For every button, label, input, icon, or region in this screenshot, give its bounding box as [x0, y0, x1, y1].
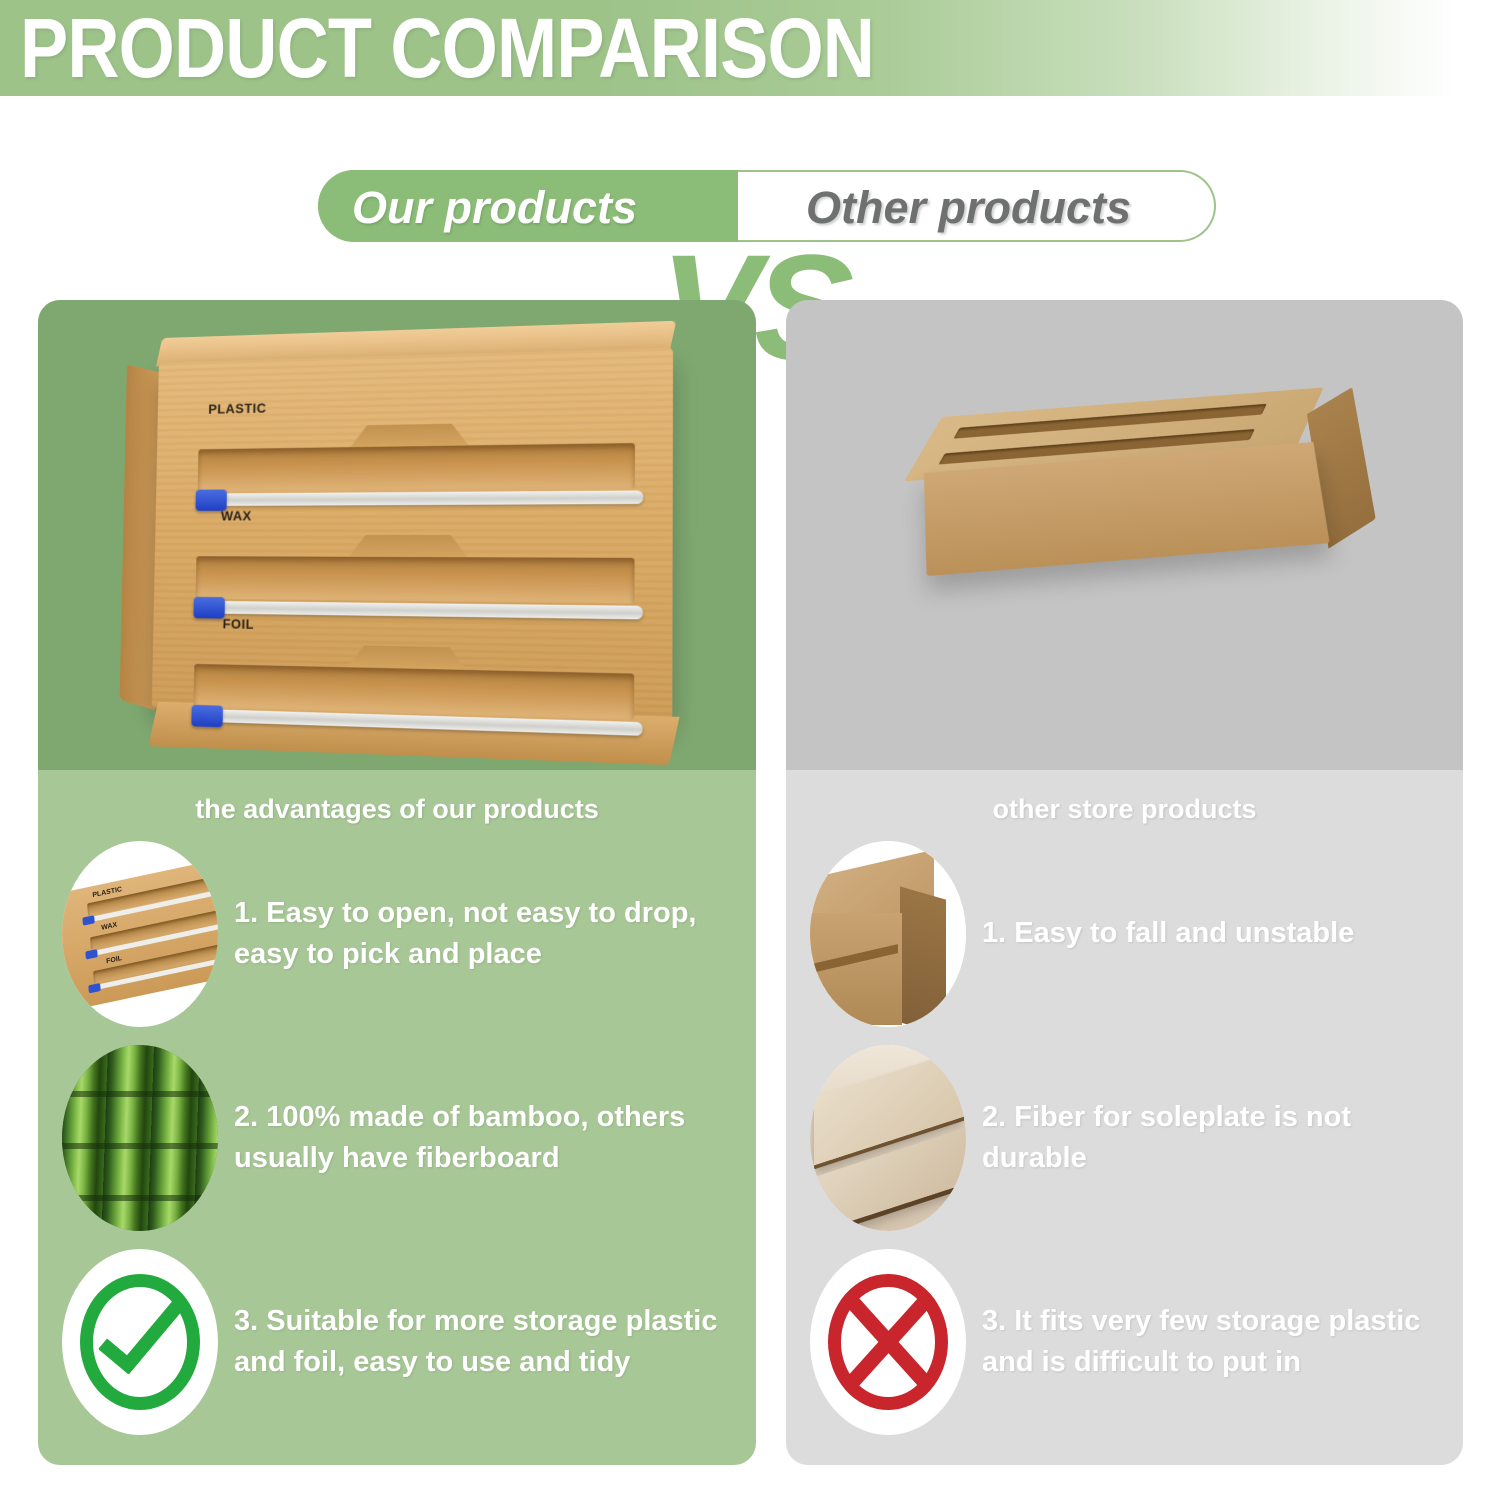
other-products-heading: other store products [786, 786, 1463, 835]
other-product-photo [786, 300, 1463, 770]
advantage-item-2: 2. 100% made of bamboo, others usually h… [38, 1039, 756, 1237]
other-drawbacks-panel: other store products 1. Easy to fall and… [786, 770, 1463, 1465]
advantage-item-1: PLASTIC WAX FOIL 1. Easy to open, not ea… [38, 835, 756, 1033]
our-advantages-heading: the advantages of our products [38, 786, 756, 835]
slot-label-plastic: PLASTIC [208, 400, 266, 417]
our-advantages-panel: the advantages of our products PLASTIC W… [38, 770, 756, 1465]
advantage-text-3: 3. Suitable for more storage plastic and… [234, 1301, 738, 1383]
cross-mark-icon [810, 1249, 966, 1435]
advantage-item-3: 3. Suitable for more storage plastic and… [38, 1243, 756, 1441]
fiberboard-photo-icon [810, 1045, 966, 1231]
bamboo-photo-icon [62, 1045, 218, 1231]
drawback-text-1: 1. Easy to fall and unstable [982, 913, 1354, 954]
page-title: PRODUCT COMPARISON [20, 0, 874, 98]
slot-label-foil: FOIL [222, 616, 254, 632]
other-products-label: Other products [806, 182, 1131, 234]
our-product-photo: PLASTIC WAX FOIL [38, 300, 756, 770]
our-products-label: Our products [352, 182, 637, 234]
box-corner-photo-icon [810, 841, 966, 1027]
check-mark-icon [62, 1249, 218, 1435]
product-comparison-page: PRODUCT COMPARISON Our products Other pr… [0, 0, 1500, 1499]
our-products-column: PLASTIC WAX FOIL [38, 300, 756, 1465]
bamboo-dispenser-illustration: PLASTIC WAX FOIL [152, 348, 673, 724]
header-banner: PRODUCT COMPARISON [0, 0, 1500, 96]
advantage-text-2: 2. 100% made of bamboo, others usually h… [234, 1097, 738, 1179]
other-products-column: other store products 1. Easy to fall and… [786, 300, 1463, 1465]
slot-label-wax: WAX [221, 508, 252, 524]
dispenser-photo-icon: PLASTIC WAX FOIL [62, 841, 218, 1027]
versus-banner: Our products Other products VS [0, 120, 1500, 275]
other-box-illustration [924, 442, 1336, 613]
drawback-item-2: 2. Fiber for soleplate is not durable [786, 1039, 1463, 1237]
drawback-text-3: 3. It fits very few storage plastic and … [982, 1301, 1445, 1383]
drawback-item-3: 3. It fits very few storage plastic and … [786, 1243, 1463, 1441]
drawback-text-2: 2. Fiber for soleplate is not durable [982, 1097, 1445, 1179]
advantage-text-1: 1. Easy to open, not easy to drop, easy … [234, 893, 738, 975]
drawback-item-1: 1. Easy to fall and unstable [786, 835, 1463, 1033]
